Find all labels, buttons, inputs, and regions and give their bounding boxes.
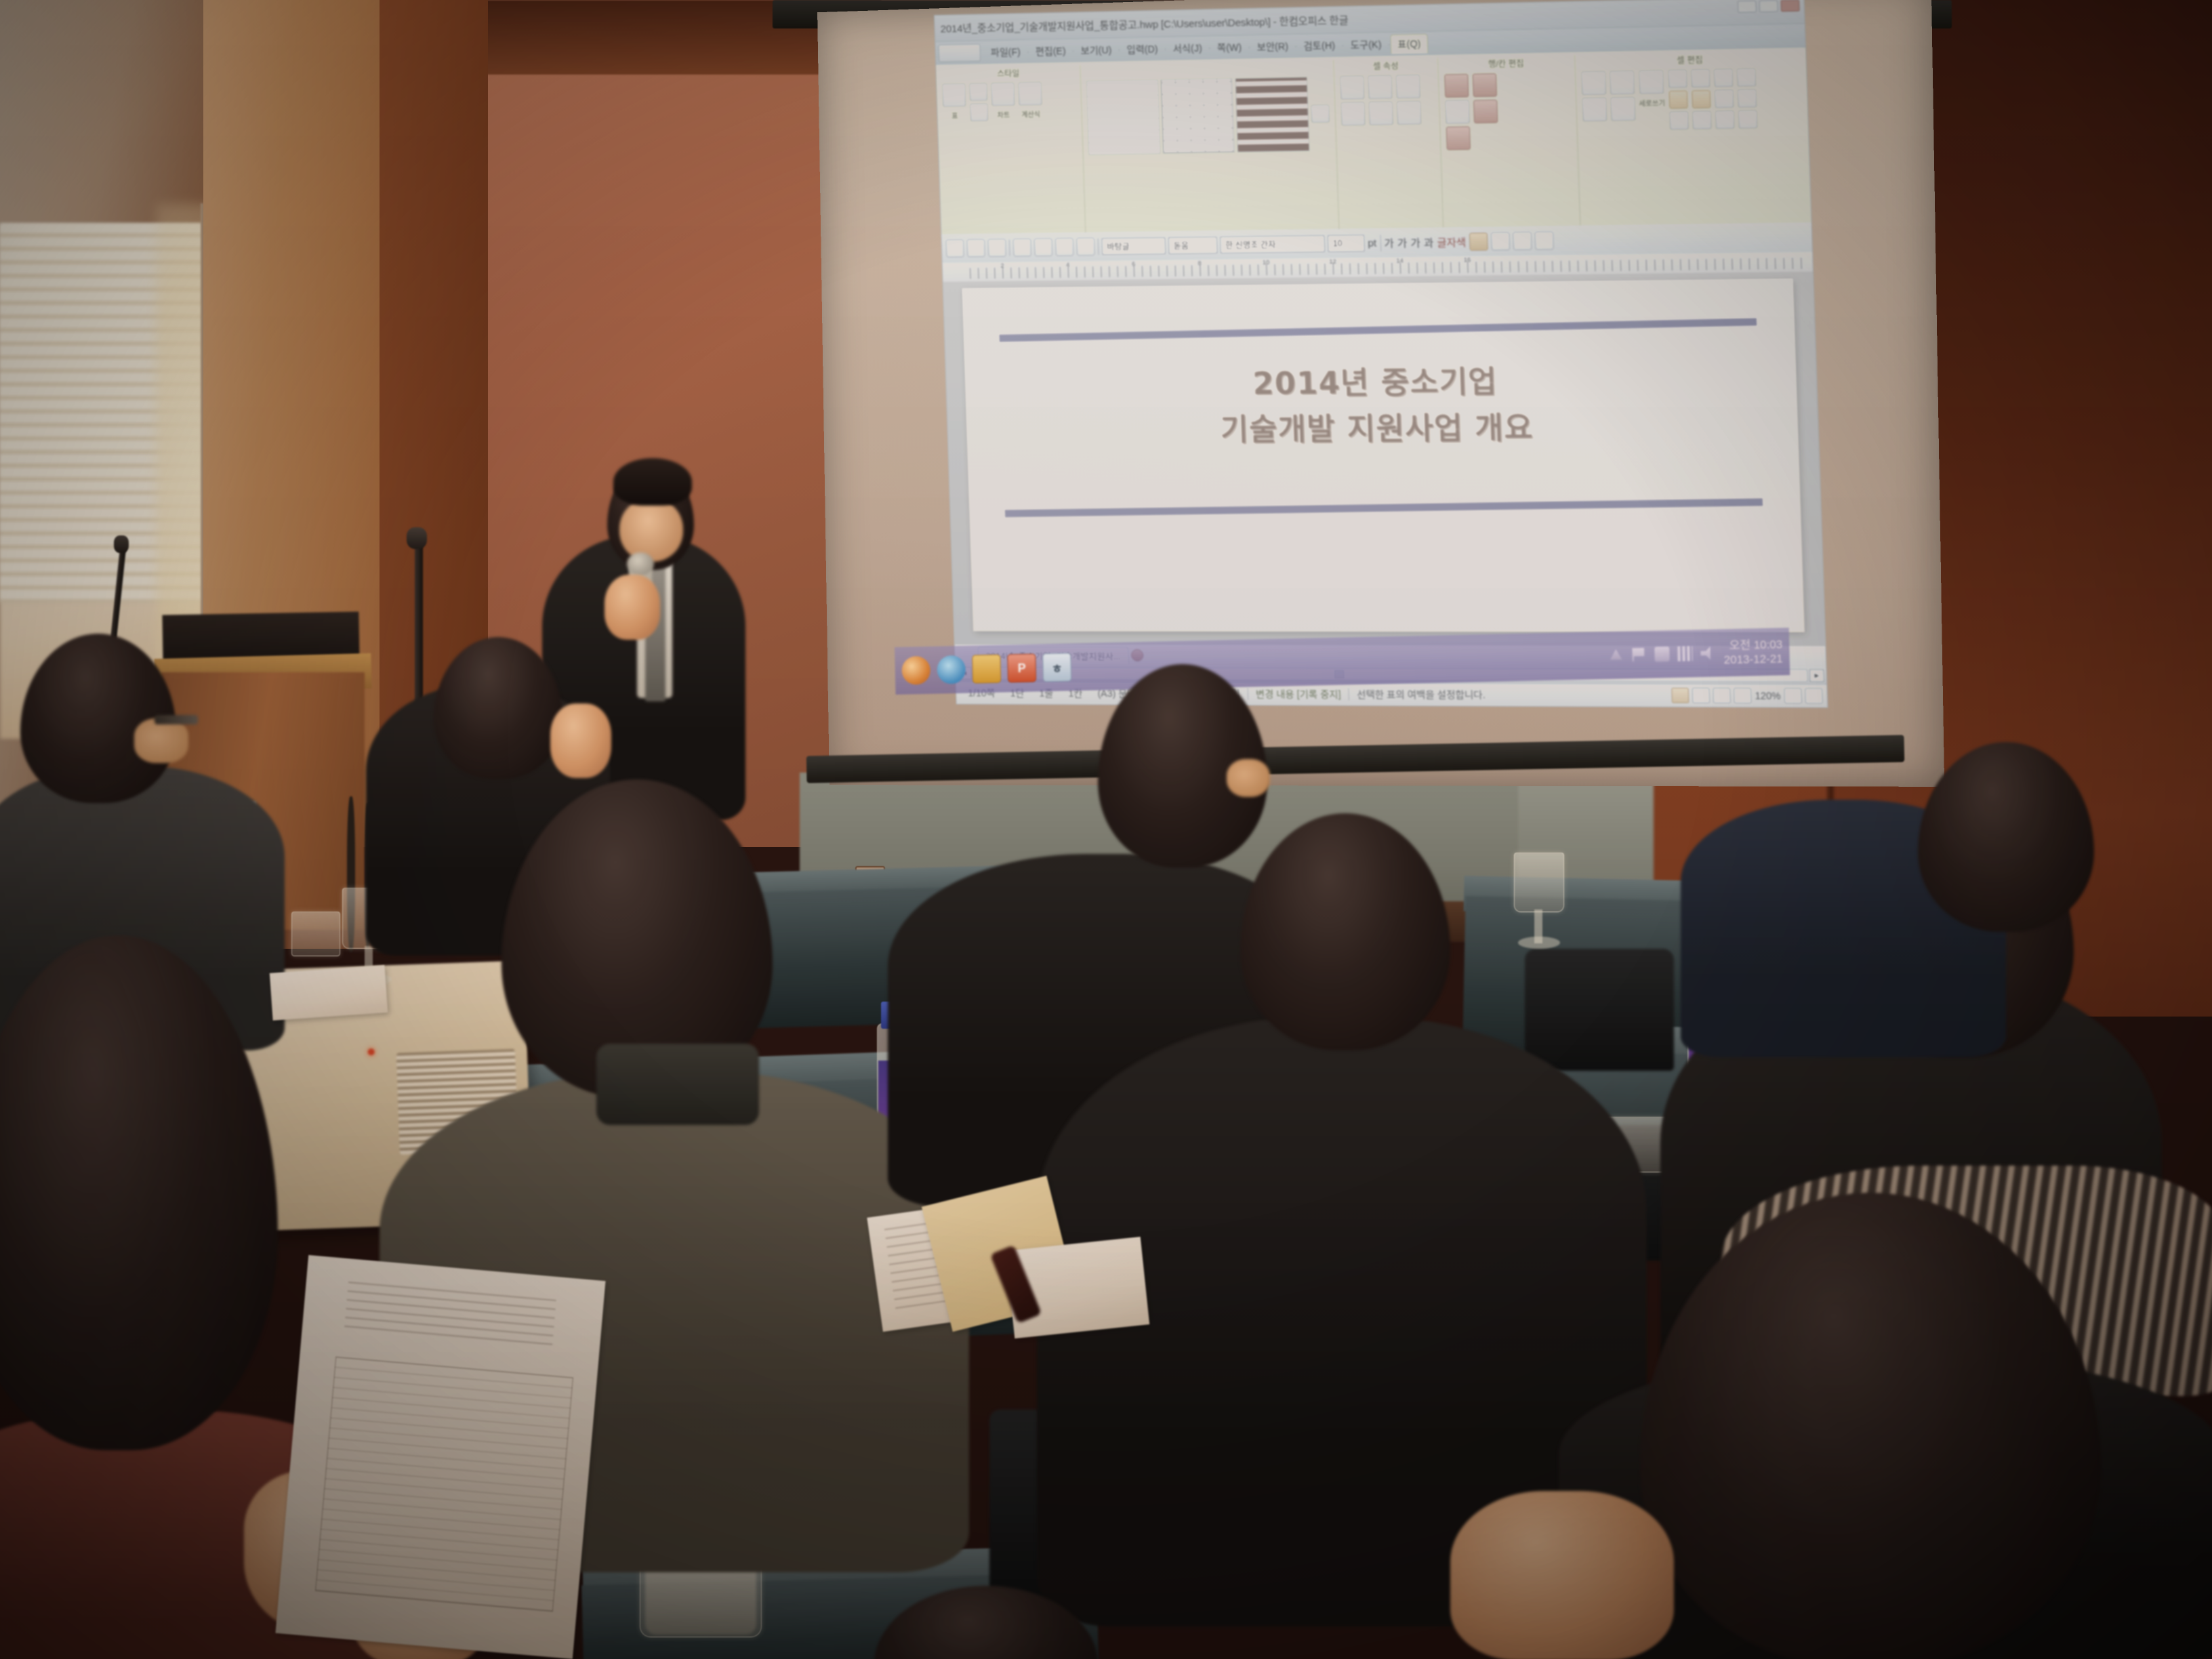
redo-icon[interactable]: [1076, 238, 1094, 255]
style-swatch-banded[interactable]: [1235, 77, 1310, 152]
format-sep-3: [1380, 234, 1381, 251]
add-row-above-icon[interactable]: [1444, 74, 1469, 98]
font-size-unit-label: pt: [1368, 237, 1376, 249]
usb-device-icon[interactable]: [1654, 647, 1669, 661]
menu-insert[interactable]: 입력(D): [1120, 40, 1164, 58]
file-explorer-icon[interactable]: [972, 655, 1001, 684]
strike-button[interactable]: 과: [1424, 235, 1434, 250]
attendee-center-back-ear: [1227, 759, 1270, 797]
menu-page[interactable]: 쪽(W): [1210, 38, 1248, 56]
attendee-left-back-glasses: [155, 715, 198, 724]
align-column-b[interactable]: [1692, 69, 1712, 129]
menu-tools[interactable]: 도구(K): [1344, 35, 1388, 54]
window-controls[interactable]: [1738, 0, 1800, 13]
highlight-color-icon[interactable]: [1469, 232, 1488, 251]
system-tray[interactable]: 오전 10:03 2013-12-21: [1608, 637, 1783, 670]
font-size-input[interactable]: 10: [1328, 235, 1364, 252]
hwp-document-canvas[interactable]: 2014년 중소기업 기술개발 지원사업 개요: [943, 272, 1826, 647]
network-signal-icon[interactable]: [1677, 646, 1692, 661]
open-doc-icon[interactable]: [967, 239, 985, 257]
hwp-ribbon-toolbar[interactable]: 스타일 표 차트 계산식: [935, 47, 1811, 234]
formula-icon[interactable]: [970, 104, 988, 122]
maximize-icon[interactable]: [1759, 0, 1778, 12]
clock-date: 2013-12-21: [1724, 651, 1783, 667]
status-track-changes: 변경 내용 [기록 중지]: [1248, 687, 1349, 701]
water-glass-right-1-foot: [1518, 937, 1560, 949]
attendee-left-mid-hand: [550, 703, 611, 778]
volume-icon[interactable]: [1700, 646, 1715, 661]
ribbon-group-cell-edit: 셀 편집 세로쓰기: [1575, 50, 1811, 226]
chart-icon[interactable]: [969, 83, 987, 102]
cell-shading-icon[interactable]: [1396, 75, 1420, 98]
align-top-icon[interactable]: [1668, 70, 1687, 88]
gallery-more-icon[interactable]: [1311, 104, 1330, 123]
cell-pattern-icon[interactable]: [1397, 101, 1421, 125]
calc-control[interactable]: 계산식: [1018, 82, 1042, 119]
split-grid-column[interactable]: [1610, 70, 1635, 121]
align-bottom-left-icon[interactable]: [1693, 111, 1712, 129]
view-fit-page-icon[interactable]: [1713, 688, 1731, 703]
menu-view[interactable]: 보기(U): [1074, 41, 1118, 59]
chair-right-1: [1525, 949, 1674, 1071]
attendee-olive-collar: [596, 1044, 759, 1125]
align-bottom-right-icon[interactable]: [1738, 110, 1757, 128]
zoom-magnifier-icon[interactable]: [1734, 688, 1751, 703]
undo-icon[interactable]: [1055, 238, 1073, 255]
font-family-select[interactable]: 돋움: [1168, 237, 1217, 253]
menu-security[interactable]: 보안(R): [1250, 37, 1295, 56]
action-center-flag-icon[interactable]: [1631, 647, 1646, 662]
title-rule-top: [999, 318, 1757, 342]
menu-file[interactable]: 파일(F): [984, 43, 1027, 61]
font-secondary-select[interactable]: 한 신명조 간자: [1220, 235, 1324, 253]
handout-table: [315, 1357, 573, 1612]
format-sep-1: [1009, 240, 1010, 256]
align-column-d[interactable]: [1737, 68, 1758, 129]
presenter-face: [619, 498, 683, 562]
vertical-text-label: 세로쓰기: [1639, 97, 1665, 108]
zoom-level-label[interactable]: 120%: [1755, 690, 1781, 701]
document-title-block: 2014년 중소기업 기술개발 지원사업 개요: [965, 357, 1799, 455]
document-page[interactable]: 2014년 중소기업 기술개발 지원사업 개요: [962, 279, 1805, 632]
font-color-button[interactable]: 글자색: [1437, 234, 1467, 249]
align-column-c[interactable]: [1714, 68, 1734, 129]
cell-shade-column[interactable]: [1396, 75, 1422, 125]
handout-heading-lines: [344, 1282, 556, 1353]
view-two-page-icon[interactable]: [1692, 688, 1710, 703]
close-icon[interactable]: [1780, 0, 1799, 12]
minimize-icon[interactable]: [1738, 1, 1757, 13]
border-line-icon[interactable]: [1368, 75, 1393, 99]
internet-explorer-icon[interactable]: [937, 655, 966, 684]
split-cols-icon[interactable]: [1610, 97, 1635, 121]
document-title-line-1: 2014년 중소기업: [965, 357, 1797, 410]
presenter-hair: [613, 458, 692, 506]
ribbon-group-style: 스타일 표 차트 계산식: [937, 65, 1086, 234]
taskbar-clock[interactable]: 오전 10:03 2013-12-21: [1723, 637, 1783, 667]
align-column-a[interactable]: [1668, 70, 1689, 130]
align-bottom-center-icon[interactable]: [1715, 110, 1734, 129]
title-rule-bottom: [1005, 498, 1763, 517]
presenter-hand: [605, 575, 660, 640]
hwp-title-text: 2014년_중소기업_기술개발지원사업_통합공고.hwp [C:\Users\u…: [940, 12, 1349, 35]
save-doc-icon[interactable]: [988, 239, 1006, 257]
calc-button-label: 계산식: [1021, 108, 1040, 119]
chart-button-label: 차트: [997, 109, 1010, 119]
ribbon-group-row-col-label: 행/칸 편집: [1488, 58, 1524, 70]
cell-border-column[interactable]: [1340, 76, 1366, 126]
align-top-left-icon[interactable]: [1692, 69, 1711, 87]
align-mid-center-icon[interactable]: [1715, 89, 1734, 108]
align-bottom-icon[interactable]: [1670, 111, 1689, 129]
ribbon-group-row-col: 행/칸 편집: [1438, 55, 1580, 228]
col-tools-column[interactable]: [1472, 73, 1498, 123]
paragraph-style-select[interactable]: 바탕글: [1102, 238, 1166, 255]
merge-split-column[interactable]: [1581, 71, 1607, 121]
attendee-bottom-right-hand: [1450, 1491, 1674, 1659]
zoom-in-icon[interactable]: [1805, 688, 1822, 703]
ribbon-group-cell-edit-label: 셀 편집: [1677, 54, 1703, 66]
new-doc-icon[interactable]: [946, 239, 964, 257]
split-rows-icon[interactable]: [1610, 70, 1635, 95]
add-col-left-icon[interactable]: [1472, 73, 1496, 97]
align-center-icon[interactable]: [1513, 232, 1532, 250]
clock-time: 오전 10:03: [1723, 637, 1782, 653]
microphone-head: [627, 552, 654, 575]
scroll-right-icon[interactable]: ►: [1809, 670, 1824, 682]
cell-line-column[interactable]: [1368, 75, 1393, 125]
document-title-line-2: 기술개발 지원사업 개요: [966, 404, 1799, 455]
menu-edit[interactable]: 편집(E): [1029, 42, 1072, 60]
ribbon-group-style-label: 스타일: [997, 68, 1020, 80]
hangul-icon[interactable]: ㅎ: [1042, 653, 1071, 682]
ribbon-group-cell-props-label: 셀 속성: [1373, 60, 1399, 72]
floor-mic-head: [407, 527, 427, 549]
table-style-gallery[interactable]: [1086, 60, 1331, 155]
podium-microphone-head: [114, 535, 129, 553]
bar-chart-icon[interactable]: [991, 83, 1015, 106]
table-insert-control[interactable]: 표: [942, 83, 966, 121]
align-left-icon[interactable]: [1491, 232, 1510, 251]
hancom-logo-icon[interactable]: [938, 44, 981, 62]
status-view-controls[interactable]: 120%: [1672, 688, 1823, 703]
cell-fill-icon[interactable]: [1341, 102, 1366, 125]
align-top-center-icon[interactable]: [1714, 68, 1733, 87]
vertical-text-control[interactable]: 세로쓰기: [1638, 70, 1666, 108]
water-glass-right-1: [1514, 853, 1564, 912]
print-icon[interactable]: [1013, 239, 1031, 256]
powerpoint-icon[interactable]: P: [1007, 653, 1036, 682]
style-swatch-plain[interactable]: [1087, 80, 1161, 155]
projector-power-led: [368, 1048, 375, 1055]
table-button-label: 표: [951, 110, 958, 120]
align-middle-icon[interactable]: [1669, 90, 1688, 108]
ribbon-group-cell-props: 셀 속성: [1334, 58, 1443, 229]
small-tools-column[interactable]: [969, 83, 988, 122]
bold-button[interactable]: 가: [1384, 236, 1394, 251]
align-mid-right-icon[interactable]: [1738, 89, 1757, 108]
attendee-left-back-face: [134, 718, 188, 763]
add-row-below-icon[interactable]: [1445, 100, 1469, 124]
merge-cell-icon[interactable]: [1582, 98, 1607, 121]
view-single-page-icon[interactable]: [1672, 688, 1689, 703]
add-col-right-icon[interactable]: [1473, 100, 1497, 123]
seminar-room-photo: 2014년_중소기업_기술개발지원사업_통합공고.hwp [C:\Users\u…: [0, 0, 2212, 1659]
format-sep-2: [1098, 239, 1099, 255]
vertical-text-icon[interactable]: [1639, 70, 1664, 94]
menu-format[interactable]: 서식(J): [1166, 39, 1208, 58]
align-top-right-icon[interactable]: [1737, 68, 1756, 87]
status-hint: 선택한 표의 여백을 설정합니다.: [1349, 687, 1494, 701]
table-icon[interactable]: [942, 83, 966, 107]
preview-icon[interactable]: [1034, 239, 1052, 256]
style-swatch-grid[interactable]: [1161, 79, 1235, 154]
split-cell-icon[interactable]: [1581, 71, 1606, 95]
projected-application-window: 2014년_중소기업_기술개발지원사업_통합공고.hwp [C:\Users\u…: [934, 0, 1828, 696]
diagonal-line-icon[interactable]: [1369, 102, 1393, 125]
delete-row-icon[interactable]: [1446, 126, 1470, 150]
chart-control[interactable]: 차트: [991, 83, 1015, 120]
start-orb-icon[interactable]: [901, 656, 930, 685]
cell-border-icon[interactable]: [1340, 76, 1365, 100]
menu-review[interactable]: 검토(H): [1297, 37, 1342, 56]
table-paper-left: [270, 965, 388, 1021]
menu-table[interactable]: 표(Q): [1390, 34, 1428, 54]
zoom-out-icon[interactable]: [1784, 688, 1802, 703]
underline-button[interactable]: 가: [1410, 235, 1420, 250]
agenda-handout[interactable]: [275, 1255, 605, 1659]
align-mid-left-icon[interactable]: [1692, 90, 1711, 108]
show-hidden-icons-icon[interactable]: [1608, 648, 1623, 663]
row-tools-column[interactable]: [1444, 74, 1471, 150]
italic-button[interactable]: 가: [1397, 235, 1408, 250]
calculator-icon[interactable]: [1018, 82, 1042, 106]
align-right-icon[interactable]: [1535, 232, 1554, 250]
ribbon-group-gallery: [1081, 60, 1340, 232]
paper-cup-left: [291, 912, 340, 956]
